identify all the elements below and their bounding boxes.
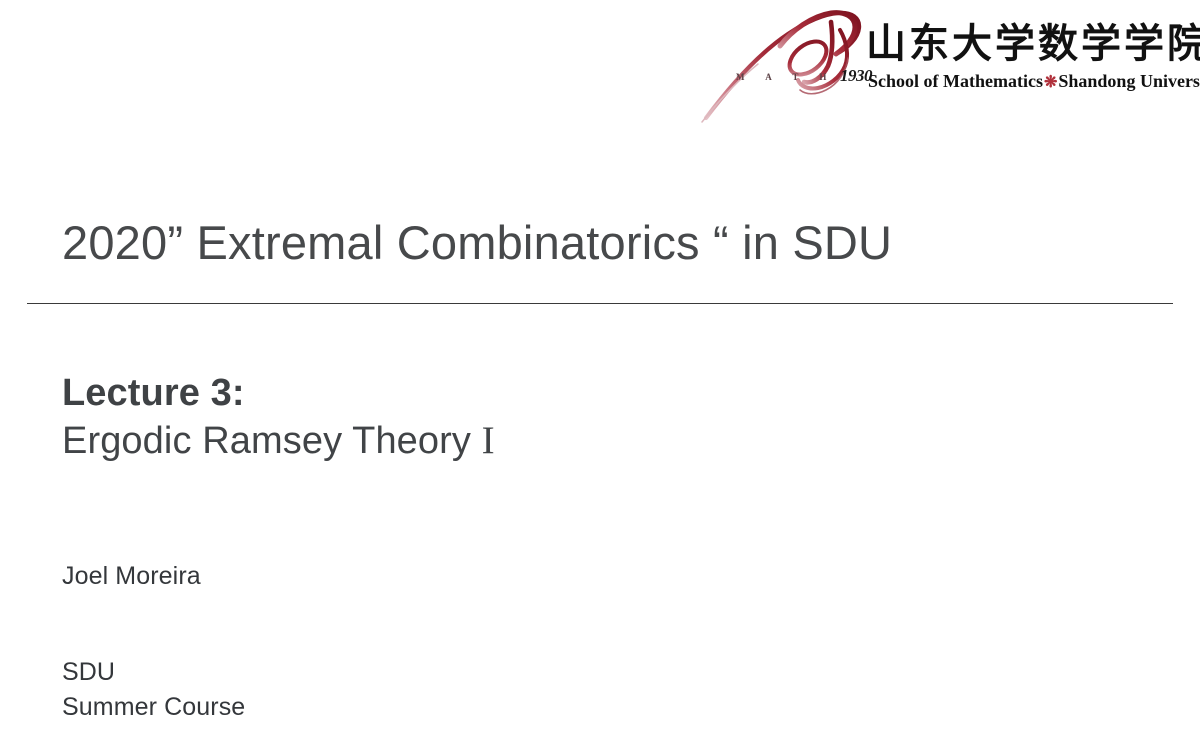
logo-separator-asterisk-icon: ❋ [1043, 74, 1058, 91]
affiliation-course: Summer Course [62, 690, 245, 725]
logo-english-right: Shandong University [1058, 71, 1200, 91]
lecture-subject-label: Ergodic Ramsey Theory I [62, 419, 495, 463]
logo-english-name: School of Mathematics❋Shandong Universit… [868, 71, 1200, 92]
lecture-part-numeral: I [482, 419, 495, 462]
slide-title: 2020” Extremal Combinatorics “ in SDU [62, 214, 892, 273]
affiliation-institution: SDU [62, 655, 245, 690]
shandong-math-swoosh-icon [700, 2, 880, 124]
title-divider [27, 303, 1173, 304]
lecture-subject-text: Ergodic Ramsey Theory [62, 420, 482, 462]
affiliation-block: SDU Summer Course [62, 655, 245, 724]
logo-english-left: School of Mathematics [868, 71, 1043, 91]
university-logo: M A T H 1930 山东大学数学学院 School of Mathemat… [700, 2, 1190, 124]
logo-chinese-name: 山东大学数学学院 [866, 24, 1200, 64]
lecture-number-label: Lecture 3: [62, 372, 495, 415]
title-slide: M A T H 1930 山东大学数学学院 School of Mathemat… [0, 0, 1200, 750]
lecture-heading: Lecture 3: Ergodic Ramsey Theory I [62, 372, 495, 462]
author-name: Joel Moreira [62, 562, 201, 591]
